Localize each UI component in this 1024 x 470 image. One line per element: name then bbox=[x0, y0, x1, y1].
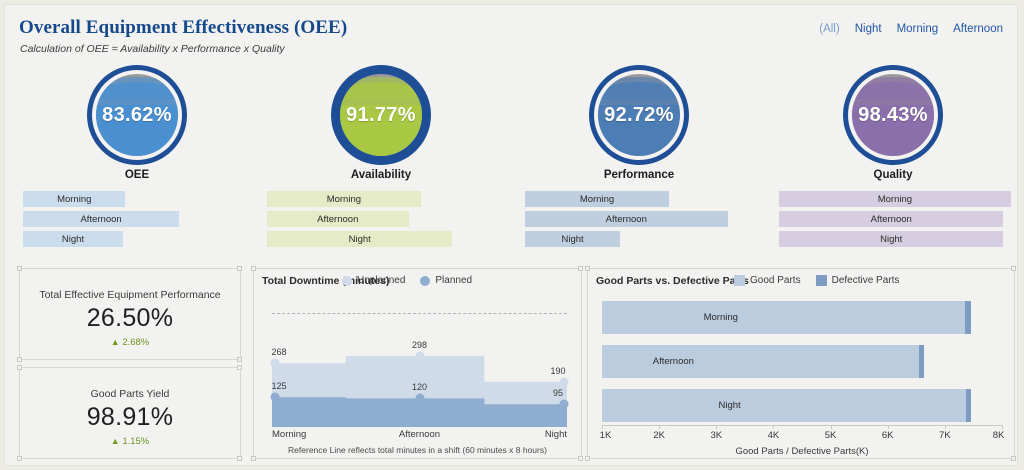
kpi-value: 26.50% bbox=[20, 304, 240, 333]
unplanned-label-night: 190 bbox=[550, 366, 565, 376]
kpi-title: Good Parts Yield bbox=[20, 388, 240, 400]
planned-label-night: 95 bbox=[553, 388, 563, 398]
shift-bar-afternoon[interactable]: Afternoon bbox=[23, 211, 179, 227]
axis-tick-label: 5K bbox=[825, 430, 837, 441]
resize-handle[interactable] bbox=[251, 456, 256, 461]
filter-link-morning[interactable]: Morning bbox=[897, 23, 939, 35]
chart-footnote: Reference Line reflects total minutes in… bbox=[254, 445, 581, 455]
gauge-value: 91.77% bbox=[346, 104, 416, 127]
metric-label: Quality bbox=[771, 169, 1015, 181]
chart-title: Good Parts vs. Defective Parts bbox=[596, 275, 749, 287]
resize-handle[interactable] bbox=[237, 456, 242, 461]
axis-label: Good Parts / Defective Parts(K) bbox=[602, 446, 1002, 457]
bar-defective-parts-night[interactable] bbox=[966, 389, 971, 422]
legend-swatch-defective-parts bbox=[816, 275, 827, 286]
unplanned-label-morning: 268 bbox=[271, 347, 286, 357]
gauge-wave-front bbox=[852, 77, 934, 99]
gauge-value: 83.62% bbox=[102, 104, 172, 127]
goodparts-x-axis: 1K2K3K4K5K6K7K8K Good Parts / Defective … bbox=[602, 425, 1002, 455]
metric-label: Performance bbox=[517, 169, 761, 181]
planned-point-night[interactable] bbox=[560, 400, 569, 409]
gauge-availability[interactable]: 91.77% bbox=[259, 65, 503, 165]
resize-handle[interactable] bbox=[237, 365, 242, 370]
axis-tick bbox=[773, 425, 774, 429]
axis-tick-label: 1K bbox=[600, 430, 612, 441]
axis-tick-label: 3K bbox=[710, 430, 722, 441]
legend-item-planned[interactable]: Planned bbox=[420, 275, 472, 286]
unplanned-point-night[interactable] bbox=[560, 377, 569, 386]
shift-bar-afternoon[interactable]: Afternoon bbox=[779, 211, 1003, 227]
axis-tick-label: 2K bbox=[653, 430, 665, 441]
resize-handle[interactable] bbox=[237, 266, 242, 271]
axis-tick bbox=[716, 425, 717, 429]
dashboard-header: Overall Equipment Effectiveness (OEE) Ca… bbox=[5, 5, 1017, 57]
kpi-card-teep[interactable]: Total Effective Equipment Performance 26… bbox=[19, 268, 241, 360]
planned-point-morning[interactable] bbox=[271, 393, 280, 402]
axis-tick-label: 6K bbox=[882, 430, 894, 441]
gauge-performance[interactable]: 92.72% bbox=[517, 65, 761, 165]
metric-oee: 83.62% OEE Morning Afternoon Night bbox=[15, 65, 259, 247]
axis-tick bbox=[659, 425, 660, 429]
kpi-delta: ▲ 1.15% bbox=[20, 436, 240, 447]
legend-item-unplanned[interactable]: Unplanned bbox=[342, 275, 405, 286]
legend-label: Planned bbox=[435, 275, 472, 286]
gauge-ring: 98.43% bbox=[843, 65, 943, 165]
bar-category-label: Afternoon bbox=[653, 356, 694, 367]
table-row[interactable]: Night bbox=[602, 389, 1002, 422]
downtime-plot-area: 268 298 190 125 120 95 bbox=[272, 303, 567, 427]
kpi-delta-value: 2.68% bbox=[122, 337, 149, 348]
unplanned-point-morning[interactable] bbox=[271, 359, 280, 368]
resize-handle[interactable] bbox=[17, 456, 22, 461]
shift-filter-links: (All) Night Morning Afternoon bbox=[819, 23, 1003, 35]
shift-bars: Morning Afternoon Night bbox=[517, 191, 761, 247]
shift-bar-morning[interactable]: Morning bbox=[267, 191, 421, 207]
shift-bar-morning[interactable]: Morning bbox=[779, 191, 1011, 207]
kpi-delta: ▲ 2.68% bbox=[20, 337, 240, 348]
bar-good-parts-morning[interactable]: Morning bbox=[602, 301, 965, 334]
planned-label-morning: 125 bbox=[271, 381, 286, 391]
page-title: Overall Equipment Effectiveness (OEE) bbox=[19, 17, 347, 39]
kpi-card-good-parts-yield[interactable]: Good Parts Yield 98.91% ▲ 1.15% bbox=[19, 367, 241, 459]
resize-handle[interactable] bbox=[251, 266, 256, 271]
axis-tick bbox=[602, 425, 603, 429]
axis-tick bbox=[831, 425, 832, 429]
axis-tick-label: 4K bbox=[768, 430, 780, 441]
resize-handle[interactable] bbox=[578, 456, 583, 461]
gauge-value: 98.43% bbox=[858, 104, 928, 127]
axis-tick bbox=[888, 425, 889, 429]
gauge-quality[interactable]: 98.43% bbox=[771, 65, 1015, 165]
shift-bars: Morning Afternoon Night bbox=[771, 191, 1015, 247]
metric-label: Availability bbox=[259, 169, 503, 181]
shift-bar-night[interactable]: Night bbox=[23, 231, 123, 247]
x-tick-afternoon: Afternoon bbox=[399, 429, 440, 440]
legend-item-defective-parts[interactable]: Defective Parts bbox=[816, 275, 900, 286]
shift-bar-morning[interactable]: Morning bbox=[23, 191, 125, 207]
metric-performance: 92.72% Performance Morning Afternoon Nig… bbox=[517, 65, 761, 247]
planned-label-afternoon: 120 bbox=[412, 382, 427, 392]
unplanned-label-afternoon: 298 bbox=[412, 340, 427, 350]
up-triangle-icon: ▲ bbox=[111, 337, 120, 347]
shift-bar-afternoon[interactable]: Afternoon bbox=[267, 211, 409, 227]
chart-total-downtime[interactable]: Total Downtime (minutes) Unplanned Plann… bbox=[253, 268, 582, 459]
legend-item-good-parts[interactable]: Good Parts bbox=[734, 275, 801, 286]
legend-swatch-good-parts bbox=[734, 275, 745, 286]
gauge-wave-front bbox=[96, 77, 178, 99]
resize-handle[interactable] bbox=[578, 266, 583, 271]
resize-handle[interactable] bbox=[1011, 456, 1016, 461]
chart-legend: Good Parts Defective Parts bbox=[734, 275, 907, 286]
resize-handle[interactable] bbox=[585, 266, 590, 271]
chart-good-vs-defective[interactable]: Good Parts vs. Defective Parts Good Part… bbox=[587, 268, 1015, 459]
gauge-value: 92.72% bbox=[604, 104, 674, 127]
resize-handle[interactable] bbox=[585, 456, 590, 461]
resize-handle[interactable] bbox=[1011, 266, 1016, 271]
resize-handle[interactable] bbox=[237, 357, 242, 362]
gauge-ring: 92.72% bbox=[589, 65, 689, 165]
bar-good-parts-afternoon[interactable]: Afternoon bbox=[602, 345, 919, 378]
shift-bar-afternoon[interactable]: Afternoon bbox=[525, 211, 728, 227]
downtime-step-areas bbox=[272, 303, 567, 427]
kpi-title: Total Effective Equipment Performance bbox=[20, 289, 240, 301]
axis-line bbox=[602, 425, 1002, 426]
metric-availability: 91.77% Availability Morning Afternoon Ni… bbox=[259, 65, 503, 247]
shift-bar-night[interactable]: Night bbox=[779, 231, 1003, 247]
chart-legend: Unplanned Planned bbox=[342, 275, 480, 286]
bar-category-label: Morning bbox=[704, 312, 738, 323]
shift-bar-night[interactable]: Night bbox=[267, 231, 452, 247]
legend-swatch-planned bbox=[420, 276, 430, 286]
metric-quality: 98.43% Quality Morning Afternoon Night bbox=[771, 65, 1015, 247]
axis-tick bbox=[1002, 425, 1003, 429]
up-triangle-icon: ▲ bbox=[111, 436, 120, 446]
bar-defective-parts-afternoon[interactable] bbox=[919, 345, 924, 378]
gauge-wave-front bbox=[598, 77, 680, 99]
metric-label: OEE bbox=[15, 169, 259, 181]
axis-tick-label: 7K bbox=[939, 430, 951, 441]
filter-link-night[interactable]: Night bbox=[855, 23, 882, 35]
x-tick-morning: Morning bbox=[272, 429, 306, 440]
bar-good-parts-night[interactable]: Night bbox=[602, 389, 966, 422]
goodparts-plot-area: Morning Afternoon Night bbox=[602, 301, 1002, 423]
page-subtitle: Calculation of OEE = Availability x Perf… bbox=[20, 43, 285, 55]
legend-label: Good Parts bbox=[750, 275, 801, 286]
table-row[interactable]: Morning bbox=[602, 301, 1002, 334]
resize-handle[interactable] bbox=[17, 266, 22, 271]
shift-bars: Morning Afternoon Night bbox=[259, 191, 503, 247]
legend-label: Defective Parts bbox=[832, 275, 900, 286]
gauge-wave-front bbox=[340, 77, 422, 99]
resize-handle[interactable] bbox=[17, 357, 22, 362]
shift-bars: Morning Afternoon Night bbox=[15, 191, 259, 247]
resize-handle[interactable] bbox=[17, 365, 22, 370]
shift-bar-morning[interactable]: Morning bbox=[525, 191, 669, 207]
table-row[interactable]: Afternoon bbox=[602, 345, 1002, 378]
dashboard: Overall Equipment Effectiveness (OEE) Ca… bbox=[4, 4, 1018, 466]
filter-link-all[interactable]: (All) bbox=[819, 23, 839, 35]
gauge-oee[interactable]: 83.62% bbox=[15, 65, 259, 165]
bar-category-label: Night bbox=[718, 400, 740, 411]
bar-defective-parts-morning[interactable] bbox=[965, 301, 971, 334]
filter-link-afternoon[interactable]: Afternoon bbox=[953, 23, 1003, 35]
planned-point-afternoon[interactable] bbox=[415, 394, 424, 403]
legend-swatch-unplanned bbox=[342, 276, 352, 286]
shift-bar-night[interactable]: Night bbox=[525, 231, 620, 247]
kpi-value: 98.91% bbox=[20, 403, 240, 432]
legend-label: Unplanned bbox=[357, 275, 405, 286]
axis-tick bbox=[945, 425, 946, 429]
kpi-delta-value: 1.15% bbox=[122, 436, 149, 447]
unplanned-point-afternoon[interactable] bbox=[415, 351, 424, 360]
axis-tick-label: 8K bbox=[993, 430, 1005, 441]
x-tick-night: Night bbox=[545, 429, 567, 440]
gauge-ring: 83.62% bbox=[87, 65, 187, 165]
gauge-ring: 91.77% bbox=[331, 65, 431, 165]
